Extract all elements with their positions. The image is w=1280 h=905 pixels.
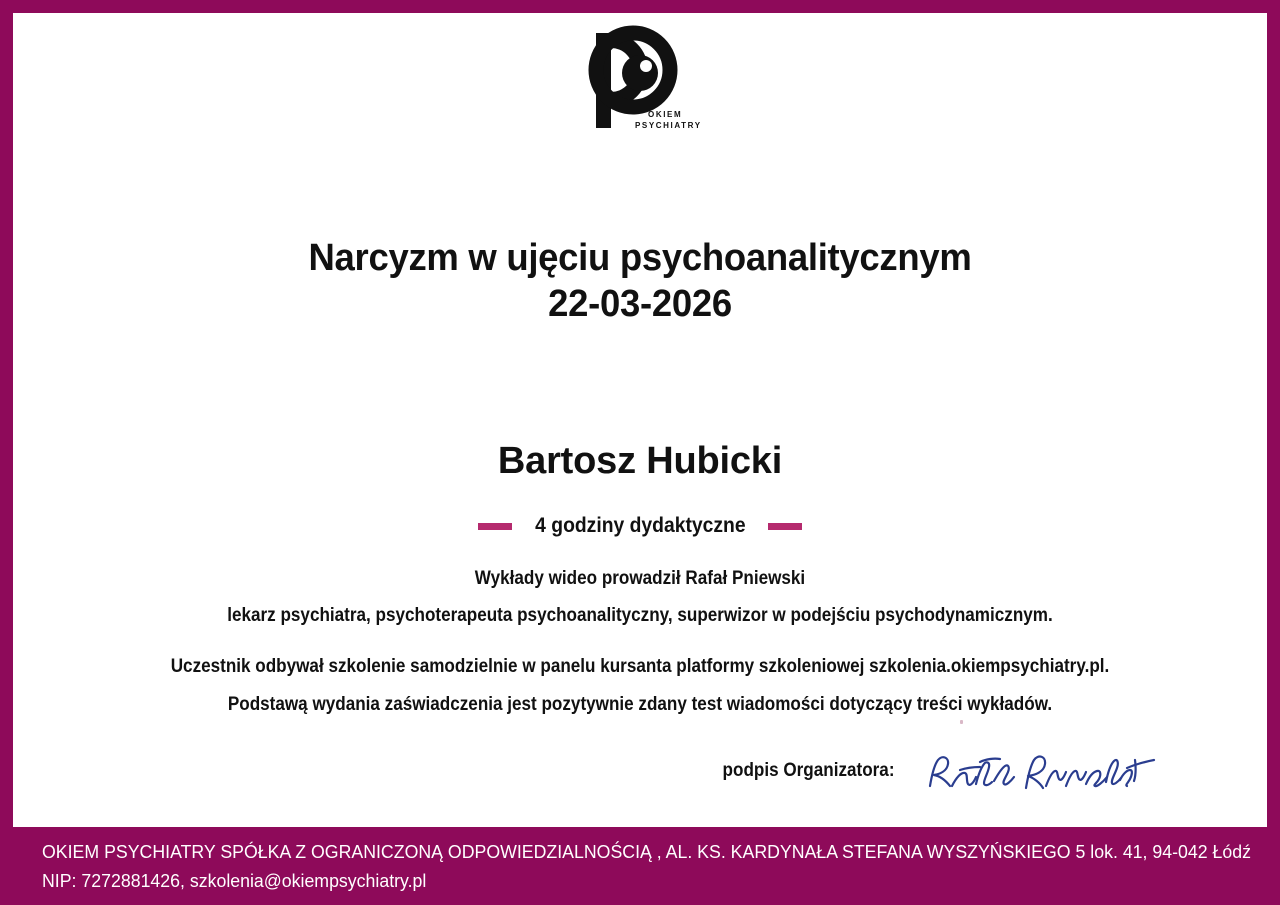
participant-name: Bartosz Hubicki bbox=[13, 438, 1267, 484]
course-title: Narcyzm w ujęciu psychoanalitycznym bbox=[38, 235, 1242, 281]
organizer-signature-icon bbox=[922, 748, 1162, 804]
logo-block: OKIEM PSYCHIATRY bbox=[13, 25, 1267, 137]
body-line-1: Uczestnik odbywał szkolenie samodzielnie… bbox=[76, 653, 1205, 681]
okiem-psychiatry-eye-p-logo: OKIEM PSYCHIATRY bbox=[580, 25, 700, 137]
certificate-document: OKIEM PSYCHIATRY Narcyzm w ujęciu psycho… bbox=[0, 0, 1280, 905]
lecturer-line: Wykłady wideo prowadził Rafał Pniewski bbox=[76, 565, 1205, 593]
footer-nip-email: NIP: 7272881426, szkolenia@okiempsychiat… bbox=[42, 867, 1261, 896]
footer-company-address: OKIEM PSYCHIATRY SPÓŁKA Z OGRANICZONĄ OD… bbox=[42, 838, 1261, 867]
participant-name-block: Bartosz Hubicki bbox=[13, 438, 1267, 484]
lecturer-block: Wykłady wideo prowadził Rafał Pniewski l… bbox=[13, 565, 1267, 630]
dash-left-icon bbox=[478, 523, 512, 530]
signature-row: podpis Organizatora: bbox=[713, 748, 1183, 808]
course-title-block: Narcyzm w ujęciu psychoanalitycznym 22-0… bbox=[13, 235, 1267, 327]
hours-label: 4 godziny dydaktyczne bbox=[535, 513, 745, 539]
certificate-page: OKIEM PSYCHIATRY Narcyzm w ujęciu psycho… bbox=[13, 13, 1267, 827]
hours-row: 4 godziny dydaktyczne bbox=[13, 513, 1267, 539]
signature-label: podpis Organizatora: bbox=[723, 758, 895, 784]
body-line-2: Podstawą wydania zaświadczenia jest pozy… bbox=[76, 691, 1205, 719]
course-date: 22-03-2026 bbox=[38, 281, 1242, 327]
lecturer-credentials: lekarz psychiatra, psychoterapeuta psych… bbox=[76, 602, 1205, 630]
scan-artifact-dot bbox=[960, 720, 963, 724]
footer-bar: OKIEM PSYCHIATRY SPÓŁKA Z OGRANICZONĄ OD… bbox=[0, 827, 1280, 905]
svg-text:OKIEM: OKIEM bbox=[648, 110, 682, 119]
body-block: Uczestnik odbywał szkolenie samodzielnie… bbox=[13, 653, 1267, 719]
svg-text:PSYCHIATRY: PSYCHIATRY bbox=[635, 121, 700, 130]
dash-right-icon bbox=[768, 523, 802, 530]
